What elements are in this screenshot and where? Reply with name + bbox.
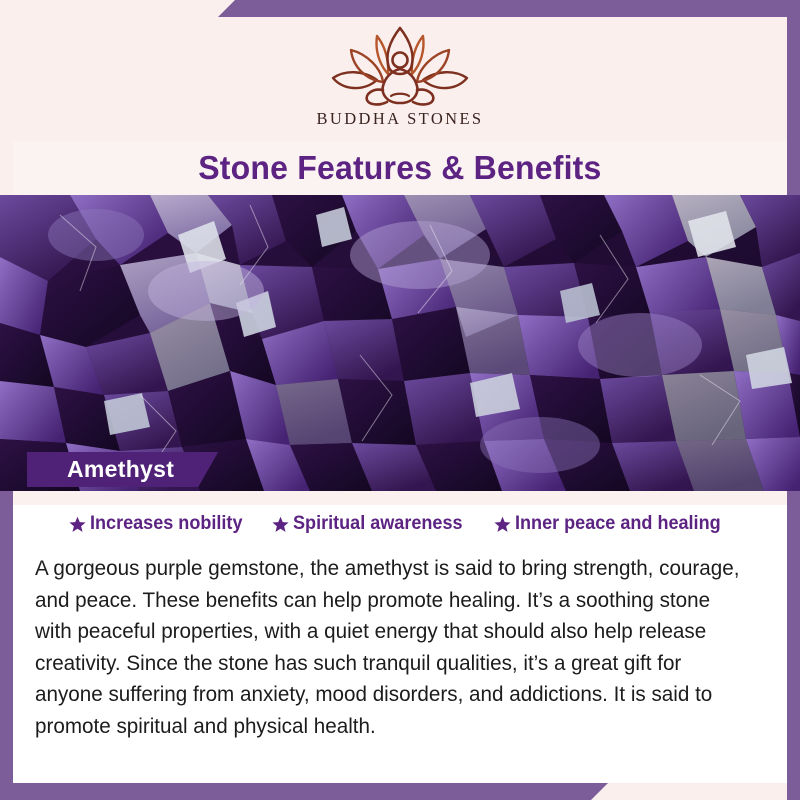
feature-item: Increases nobility: [69, 513, 251, 535]
stone-name: Amethyst: [67, 456, 174, 483]
lotus-meditation-icon: [325, 26, 475, 108]
panel-top-tint: [13, 491, 787, 505]
border-band-bottom: [0, 783, 608, 800]
feature-item: Inner peace and healing: [494, 513, 731, 535]
feature-label: Spiritual awareness: [293, 513, 463, 535]
stone-description: A gorgeous purple gemstone, the amethyst…: [35, 553, 742, 742]
content-panel: Increases nobility Spiritual awareness I…: [13, 491, 787, 783]
feature-label: Increases nobility: [90, 513, 242, 535]
brand-name: BUDDHA STONES: [316, 109, 483, 129]
border-band-top: [218, 0, 800, 17]
feature-list: Increases nobility Spiritual awareness I…: [13, 513, 787, 535]
amethyst-crystal-cluster-photo: [0, 195, 800, 491]
star-icon: [494, 516, 511, 533]
feature-item: Spiritual awareness: [272, 513, 471, 535]
infographic-page: BUDDHA STONES Stone Features & Benefits: [0, 0, 800, 800]
stone-name-banner: Amethyst: [27, 452, 218, 487]
star-icon: [272, 516, 289, 533]
star-icon: [69, 516, 86, 533]
page-title: Stone Features & Benefits: [198, 149, 601, 187]
title-strip: Stone Features & Benefits: [13, 141, 787, 195]
brand-header: BUDDHA STONES: [13, 17, 787, 141]
border-band-left: [0, 491, 13, 800]
feature-label: Inner peace and healing: [515, 513, 721, 535]
